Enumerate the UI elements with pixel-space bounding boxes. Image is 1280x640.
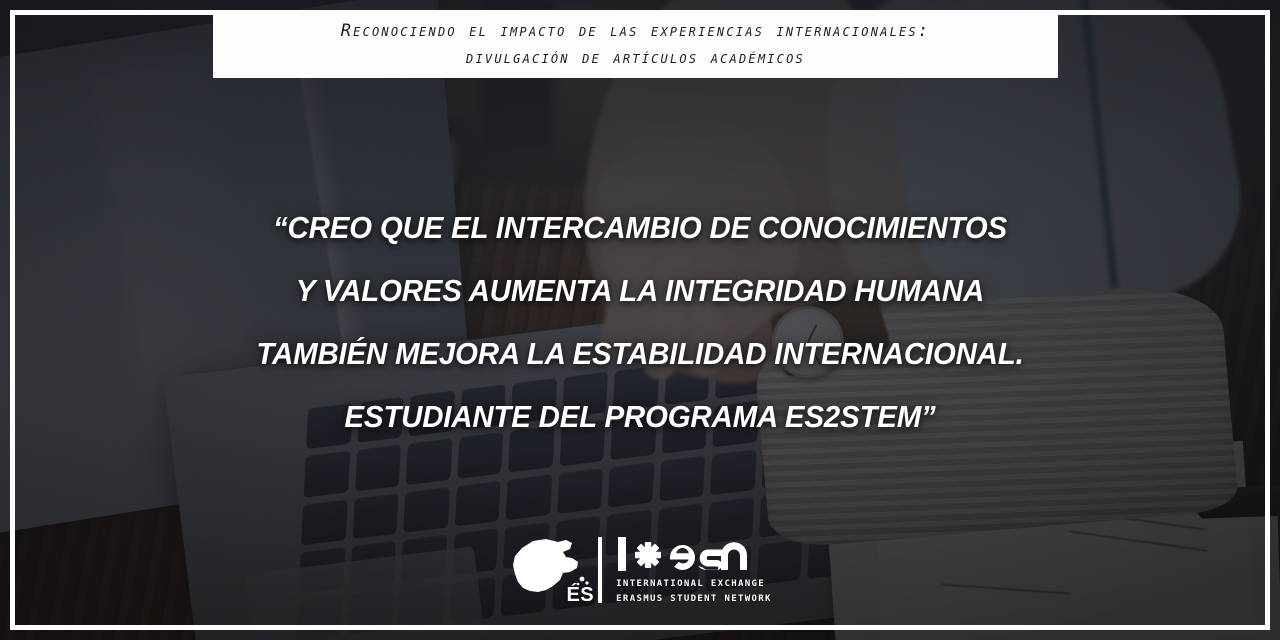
title-line-2: divulgación de artículos académicos [466, 45, 805, 72]
quote-line-2: Y VALORES AUMENTA LA INTEGRIDAD HUMANA [99, 259, 1182, 322]
esn-subtitle-line-1: INTERNATIONAL EXCHANGE [616, 578, 772, 590]
country-code-label: ÉS [566, 584, 594, 607]
esn-logo: ÉS [0, 534, 1280, 606]
quote-line-4: ESTUDIANTE DEL PROGRAMA ES2STEM” [99, 385, 1182, 448]
esn-wordmark-block: INTERNATIONAL EXCHANGE ERASMUS STUDENT N… [616, 535, 772, 605]
logo-divider [598, 537, 602, 603]
esn-subtitle-line-2: ERASMUS STUDENT NETWORK [616, 593, 772, 605]
quote-line-3: TAMBIÉN MEJORA LA ESTABILIDAD INTERNACIO… [99, 322, 1182, 385]
quote-line-1: “CREO QUE EL INTERCAMBIO DE CONOCIMIENTO… [99, 196, 1182, 259]
poster: Reconociendo el impacto de las experienc… [0, 0, 1280, 640]
spain-map-icon: ÉS [508, 534, 592, 606]
title-line-1: Reconociendo el impacto de las experienc… [341, 18, 931, 45]
title-bar: Reconociendo el impacto de las experienc… [213, 10, 1058, 78]
esn-wordmark-icon [616, 535, 772, 575]
quote-block: “CREO QUE EL INTERCAMBIO DE CONOCIMIENTO… [0, 196, 1280, 448]
